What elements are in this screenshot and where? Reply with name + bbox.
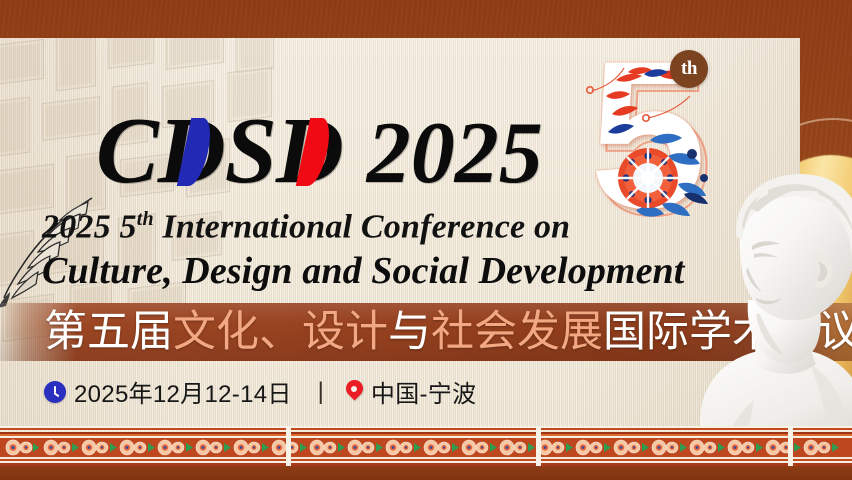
ornate-floral-border: [0, 426, 852, 466]
map-pin-icon: [346, 380, 363, 403]
subtitle-suffix: International Conference on: [154, 208, 571, 245]
chinese-title-part-1: 第五届: [44, 308, 173, 356]
chinese-title-part-3: 与: [388, 308, 431, 356]
acronym-letter-s: S: [225, 104, 276, 198]
conference-banner: CDSD 2025 5 5: [0, 0, 852, 480]
page-title: CDSD 2025: [96, 104, 543, 198]
subtitle-line-1: 2025 5th International Conference on: [42, 208, 570, 246]
acronym-letter-d-blue: D: [158, 104, 225, 198]
event-location: 中国-宁波: [371, 374, 477, 409]
subtitle-ordinal: th: [137, 208, 154, 230]
acronym-cdsd: CDSD: [96, 104, 343, 198]
event-meta: 2025年12月12-14日 | 中国-宁波: [44, 374, 476, 409]
acronym-letter-c: C: [96, 104, 158, 198]
clock-icon: [44, 381, 66, 403]
chinese-title-part-2: 文化、设计: [173, 308, 388, 356]
acronym-letter-d-red: D: [276, 104, 343, 198]
event-date: 2025年12月12-14日: [74, 374, 292, 409]
border-underlay: [0, 466, 852, 480]
subtitle-prefix: 2025 5: [42, 208, 137, 245]
edition-ordinal-badge: th: [670, 50, 708, 88]
border-motif-pattern: [0, 438, 852, 457]
subtitle-line-2: Culture, Design and Social Development: [42, 249, 684, 293]
chinese-title-part-4: 社会发展: [431, 308, 603, 356]
meta-separator: |: [318, 378, 324, 406]
title-year: 2025: [367, 110, 543, 198]
